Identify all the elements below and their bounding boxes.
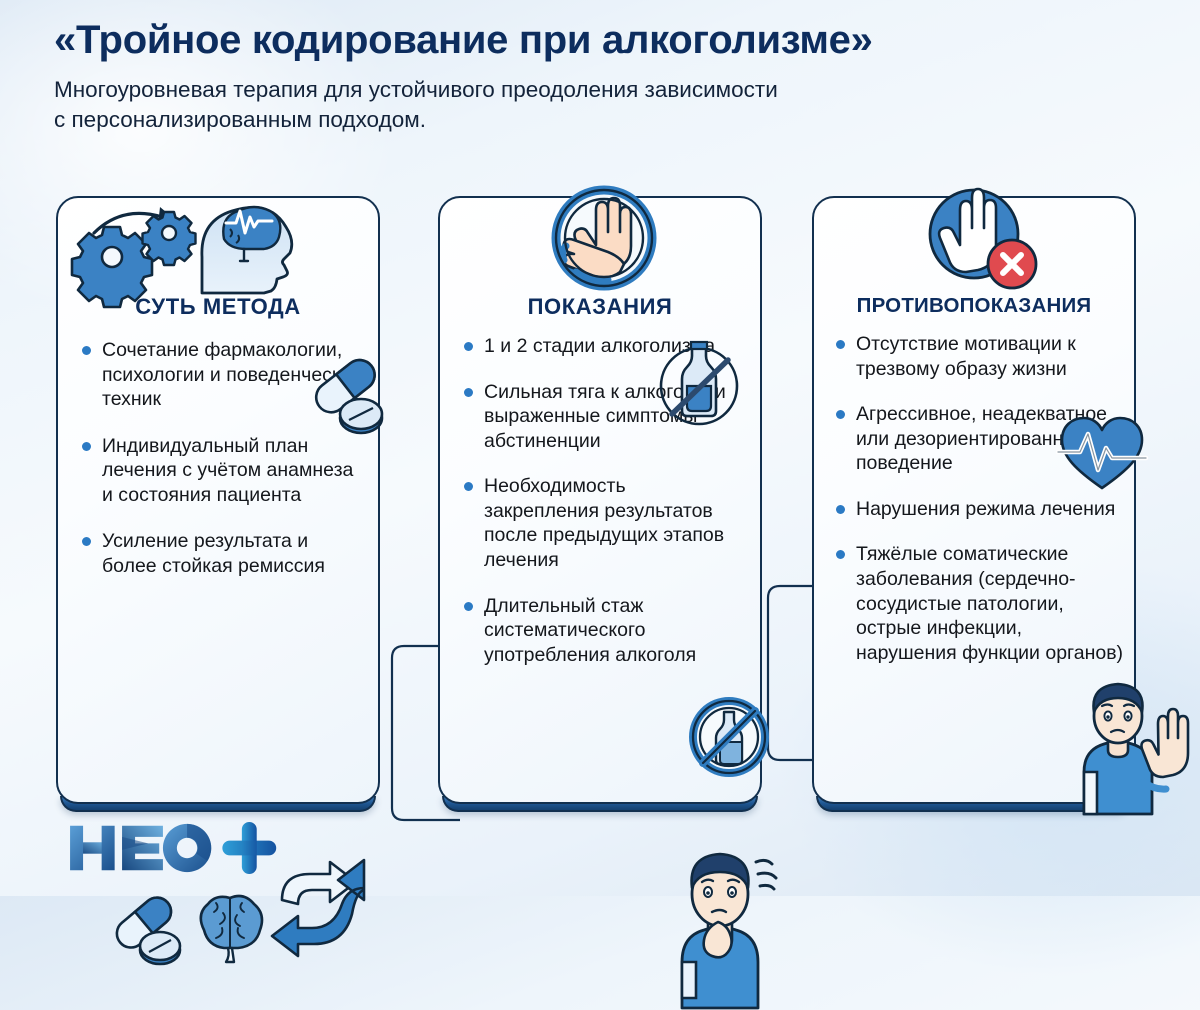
brain-icon (190, 890, 270, 968)
card-method-bullet-list: Сочетание фармакологии, психологии и пов… (80, 338, 362, 601)
page-subtitle: Многоуровневая терапия для устойчивого п… (54, 75, 1174, 135)
card-indications-title: ПОКАЗАНИЯ (440, 294, 760, 320)
card-contraindications-bullet-list: Отсутствие мотивации к трезвому образу ж… (834, 332, 1126, 686)
list-item: Отсутствие мотивации к трезвому образу ж… (834, 332, 1126, 381)
subtitle-line-2: с персонализированным подходом. (54, 105, 1174, 135)
card-indications[interactable]: ПОКАЗАНИЯ 1 и 2 стадии алкоголизма Сильн… (438, 196, 762, 804)
pills-icon (104, 888, 190, 968)
list-item: Длительный стаж систематического употреб… (462, 594, 744, 668)
header: «Тройное кодирование при алкоголизме» Мн… (54, 18, 1174, 135)
list-item: Тяжёлые соматические заболевания (сердеч… (834, 542, 1126, 665)
list-item: Сильная тяга к алкоголю и выраженные сим… (462, 380, 744, 454)
list-item: Индивидуальный план лечения с учётом ана… (80, 434, 362, 508)
infographic-page: «Тройное кодирование при алкоголизме» Мн… (0, 0, 1200, 896)
card-indications-bullet-list: 1 и 2 стадии алкоголизма Сильная тяга к … (462, 334, 744, 688)
list-item: 1 и 2 стадии алкоголизма (462, 334, 744, 359)
page-title: «Тройное кодирование при алкоголизме» (54, 18, 1174, 63)
list-item: Необходимость закрепления результатов по… (462, 474, 744, 572)
card-method-title: СУТЬ МЕТОДА (58, 294, 378, 320)
card-contraindications-title: ПРОТИВОПОКАЗАНИЯ (814, 294, 1134, 318)
list-item: Усиление результата и более стойкая реми… (80, 529, 362, 578)
neo-plus-logo[interactable] (60, 822, 290, 874)
subtitle-line-1: Многоуровневая терапия для устойчивого п… (54, 75, 1174, 105)
worried-man-icon (660, 840, 782, 1010)
list-item: Нарушения режима лечения (834, 497, 1126, 522)
cards-row: СУТЬ МЕТОДА Сочетание фармакологии, псих… (0, 196, 1200, 816)
card-contraindications[interactable]: ПРОТИВОПОКАЗАНИЯ Отсутствие мотивации к … (812, 196, 1136, 804)
list-item: Агрессивное, неадекватное или дезориенти… (834, 402, 1126, 476)
list-item: Сочетание фармакологии, психологии и пов… (80, 338, 362, 412)
card-method[interactable]: СУТЬ МЕТОДА Сочетание фармакологии, псих… (56, 196, 380, 804)
